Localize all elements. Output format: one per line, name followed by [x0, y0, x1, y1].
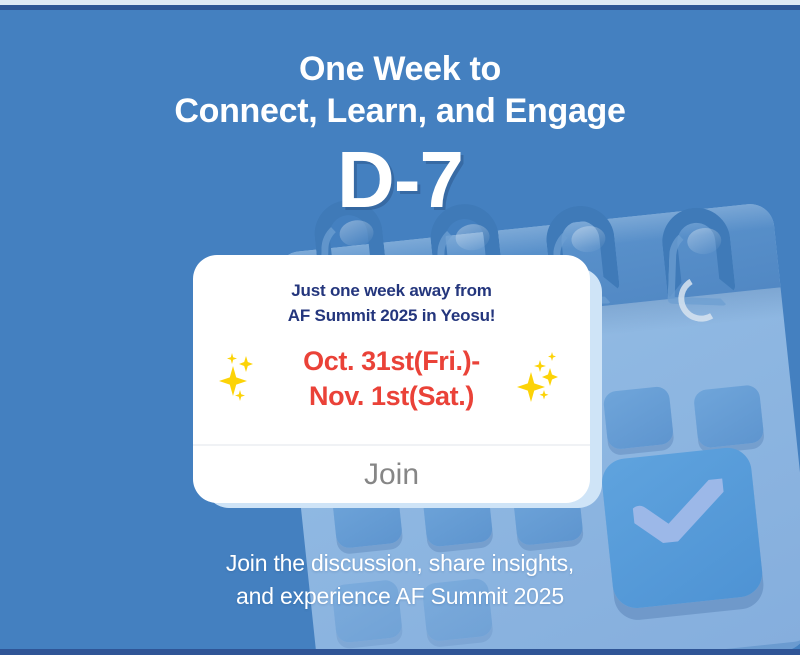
footer-text: Join the discussion, share insights, and…: [0, 547, 800, 614]
countdown-label: D-7: [0, 140, 800, 220]
ring-highlight: [570, 224, 607, 253]
headline-line-1: One Week to: [0, 48, 800, 90]
info-card-body: Just one week away from AF Summit 2025 i…: [193, 255, 590, 414]
ring-highlight: [454, 223, 491, 252]
promo-poster: One Week to Connect, Learn, and Engage D…: [0, 0, 800, 664]
headline: One Week to Connect, Learn, and Engage: [0, 48, 800, 132]
poster-canvas: One Week to Connect, Learn, and Engage D…: [0, 10, 800, 649]
ring-highlight: [686, 226, 723, 255]
headline-line-2: Connect, Learn, and Engage: [0, 90, 800, 132]
footer-line-1: Join the discussion, share insights,: [0, 547, 800, 580]
join-button[interactable]: Join: [193, 446, 590, 503]
check-icon: [631, 478, 729, 545]
card-lead-line-1: Just one week away from: [211, 279, 572, 304]
calendar-day-tile: [693, 384, 765, 449]
footer-line-2: and experience AF Summit 2025: [0, 580, 800, 613]
bottom-edge-strip: [0, 655, 800, 664]
calendar-day-tile: [603, 386, 675, 451]
card-dates-row: Oct. 31st(Fri.)- Nov. 1st(Sat.): [211, 344, 572, 414]
card-lead-text: Just one week away from AF Summit 2025 i…: [211, 279, 572, 328]
card-lead-line-2: AF Summit 2025 in Yeosu!: [211, 304, 572, 329]
info-card: Just one week away from AF Summit 2025 i…: [193, 255, 590, 503]
sparkle-icon: [213, 350, 269, 406]
sparkle-icon: [514, 350, 570, 406]
